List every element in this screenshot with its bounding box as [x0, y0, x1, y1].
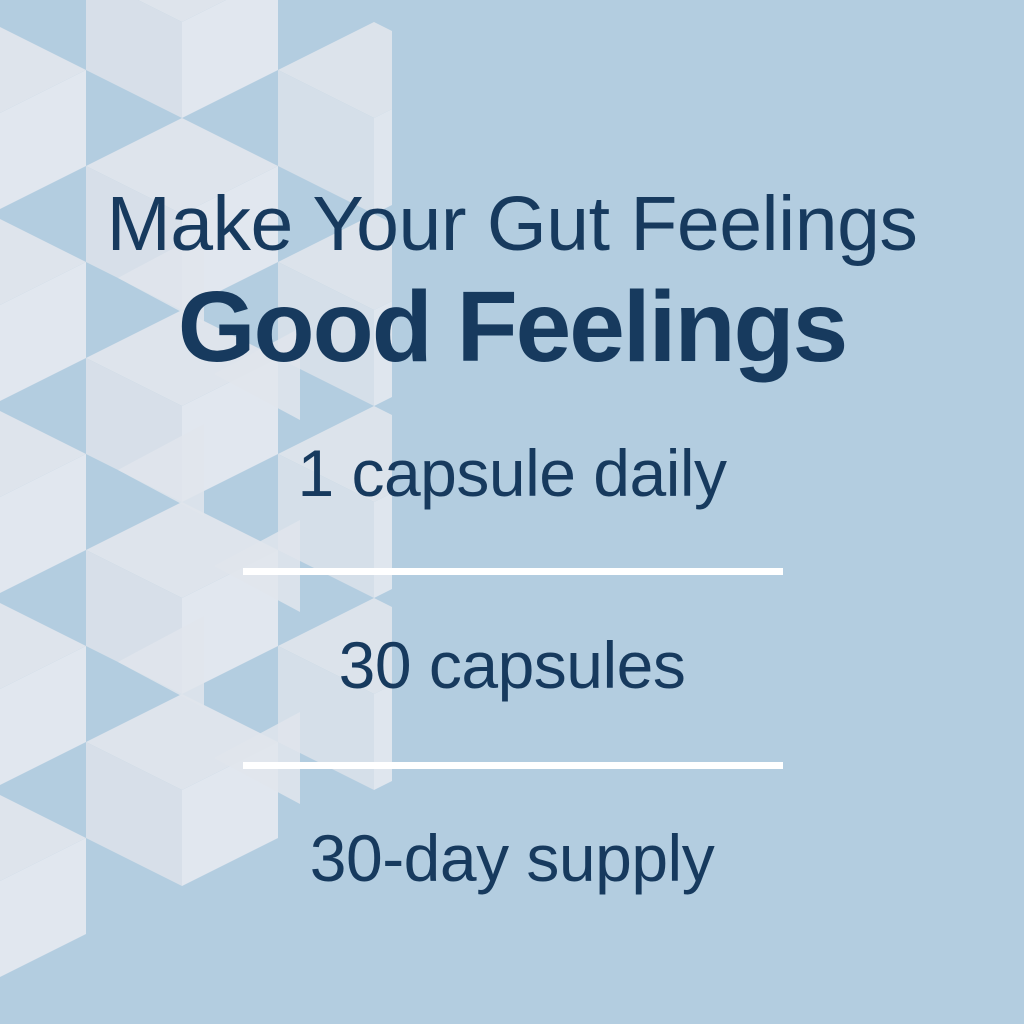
spec-supply-duration: 30-day supply — [0, 825, 1024, 891]
divider-above-supply-duration — [243, 762, 783, 769]
content-stack: Make Your Gut Feelings Good Feelings 1 c… — [0, 0, 1024, 1024]
spec-capsule-count: 30 capsules — [0, 632, 1024, 698]
spec-dosage: 1 capsule daily — [0, 440, 1024, 506]
headline-line-2: Good Feelings — [0, 277, 1024, 377]
product-info-graphic: Make Your Gut Feelings Good Feelings 1 c… — [0, 0, 1024, 1024]
divider-above-capsule-count — [243, 568, 783, 575]
headline-line-1: Make Your Gut Feelings — [0, 186, 1024, 263]
